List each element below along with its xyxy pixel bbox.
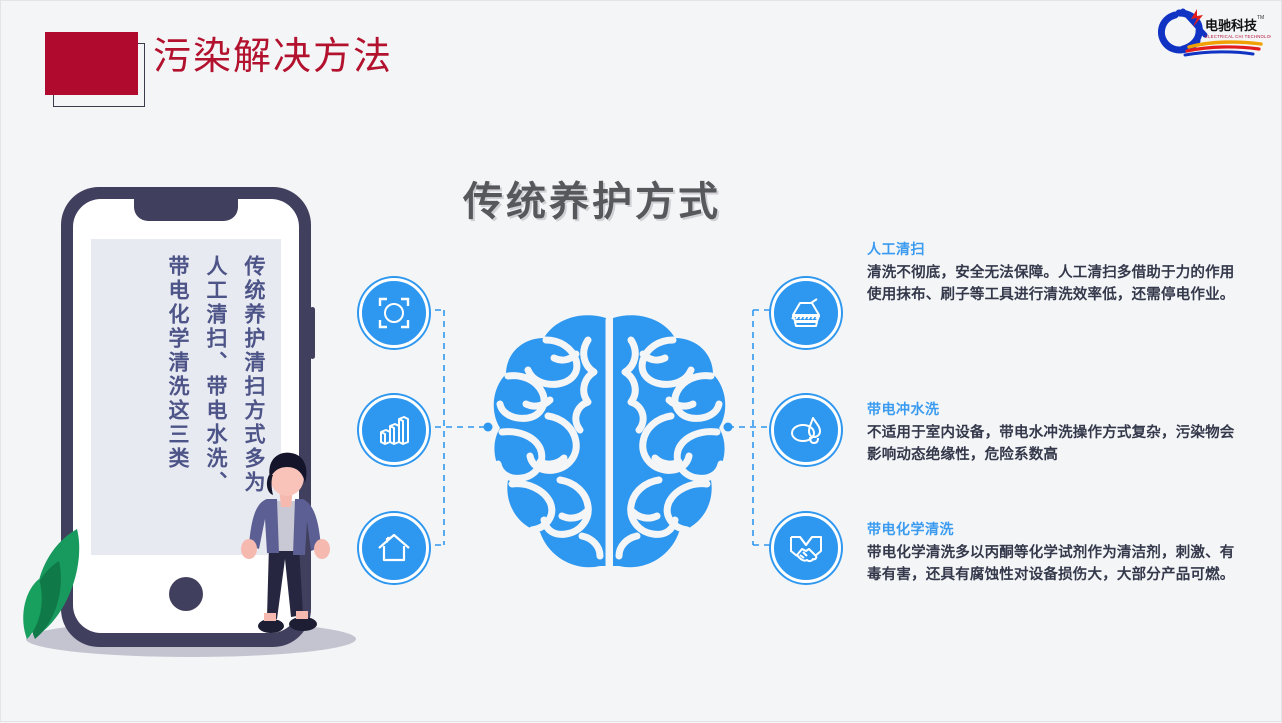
info-block-2: 带电冲水洗 不适用于室内设备，带电水冲洗操作方式复杂，污染物会影响动态绝缘性，危… <box>867 399 1239 467</box>
brain-graphic <box>488 304 731 590</box>
house-icon[interactable] <box>359 513 429 583</box>
info-block-2-body: 不适用于室内设备，带电水冲洗操作方式复杂，污染物会影响动态绝缘性，危险系数高 <box>867 422 1239 467</box>
phone-side-button <box>310 307 315 359</box>
info-block-3-title: 带电化学清洗 <box>867 519 1239 539</box>
svg-text:TM: TM <box>1257 15 1264 21</box>
info-block-2-title: 带电冲水洗 <box>867 399 1239 419</box>
page-title: 污染解决方法 <box>153 38 393 76</box>
broom-sweep-icon[interactable] <box>771 278 841 348</box>
person-illustration <box>233 449 341 649</box>
info-block-3-body: 带电化学清洗多以丙酮等化学试剂作为清洁剂，刺激、有毒有害，还具有腐蚀性对设备损伤… <box>867 542 1239 587</box>
handshake-icon[interactable] <box>771 513 841 583</box>
phone-vertical-line-3: 带电化学清洗这三类 <box>163 255 191 471</box>
header-accent-square <box>45 32 138 95</box>
svg-text:ELECTRICAL CHI TECHNOLOGY: ELECTRICAL CHI TECHNOLOGY <box>1205 34 1271 39</box>
slide-canvas: 污染解决方法 电驰科技 ELECTRICAL CHI TECHNOLOGY TM… <box>0 0 1282 722</box>
company-logo: 电驰科技 ELECTRICAL CHI TECHNOLOGY TM <box>1153 5 1271 61</box>
bar-chart-icon[interactable] <box>359 395 429 465</box>
phone-notch <box>134 199 238 221</box>
info-block-1: 人工清扫 清洗不彻底，安全无法保障。人工清扫多借助于力的作用使用抹布、刷子等工具… <box>867 239 1239 307</box>
info-block-1-body: 清洗不彻底，安全无法保障。人工清扫多借助于力的作用使用抹布、刷子等工具进行清洗效… <box>867 262 1239 307</box>
phone-vertical-line-2: 人工清扫、带电水洗、 <box>201 255 229 495</box>
focus-frame-icon[interactable] <box>359 278 429 348</box>
water-spray-icon[interactable] <box>771 395 841 465</box>
info-block-1-title: 人工清扫 <box>867 239 1239 259</box>
phone-home-button <box>169 577 203 611</box>
main-heading: 传统养护方式 <box>463 169 721 227</box>
info-block-3: 带电化学清洗 带电化学清洗多以丙酮等化学试剂作为清洁剂，刺激、有毒有害，还具有腐… <box>867 519 1239 587</box>
plant-leaves <box>19 521 139 651</box>
svg-text:电驰科技: 电驰科技 <box>1205 18 1258 34</box>
